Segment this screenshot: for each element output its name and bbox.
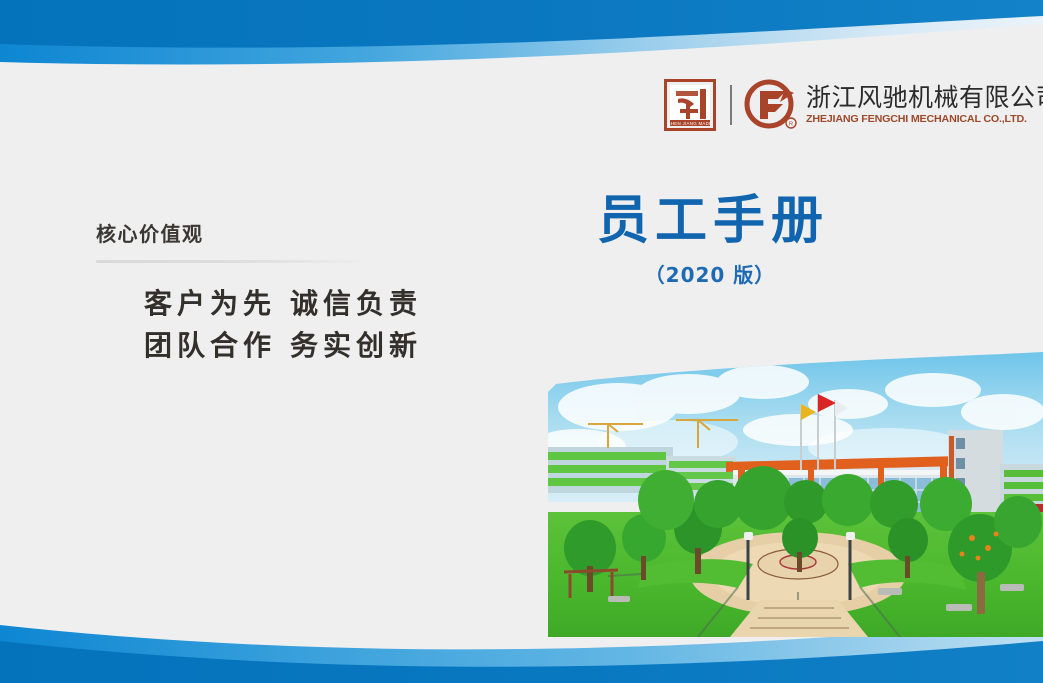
svg-text:R: R xyxy=(789,121,793,127)
core-value-item: 团队合作 xyxy=(144,329,276,362)
employee-handbook-cover: SHEN JIANG MADE R 浙江风驰机械有限公司 ZHEJIANG FE… xyxy=(0,0,1043,683)
title-block: 员工手册 （2020 版） xyxy=(560,190,860,288)
company-name-cn: 浙江风驰机械有限公司 xyxy=(806,84,1043,112)
svg-text:SHEN JIANG MADE: SHEN JIANG MADE xyxy=(668,121,713,126)
company-name-block: 浙江风驰机械有限公司 ZHEJIANG FENGCHI MECHANICAL C… xyxy=(806,84,1043,126)
core-values-block: 核心价值观 客户为先诚信负责 团队合作务实创新 xyxy=(96,222,426,367)
logo-divider xyxy=(730,85,732,125)
core-values-divider xyxy=(96,260,360,263)
core-value-item: 务实创新 xyxy=(290,329,422,362)
document-subtitle: （2020 版） xyxy=(560,262,860,288)
core-values-heading: 核心价值观 xyxy=(96,222,426,248)
company-name-en: ZHEJIANG FENGCHI MECHANICAL CO.,LTD. xyxy=(806,112,1043,126)
bottom-dark-wave xyxy=(0,641,1043,683)
shenjiang-seal-icon: SHEN JIANG MADE xyxy=(664,79,716,131)
core-values-list: 客户为先诚信负责 团队合作务实创新 xyxy=(96,283,426,367)
document-title: 员工手册 xyxy=(560,190,860,252)
fengchi-f-logo-icon: R xyxy=(744,79,798,131)
core-value-item: 诚信负责 xyxy=(290,287,422,320)
company-logo-row: SHEN JIANG MADE R 浙江风驰机械有限公司 ZHEJIANG FE… xyxy=(664,76,1043,134)
core-value-item: 客户为先 xyxy=(144,287,276,320)
core-values-line: 客户为先诚信负责 xyxy=(96,283,422,325)
top-dark-wave xyxy=(0,0,1043,48)
company-campus-photo xyxy=(548,352,1043,637)
top-light-wave xyxy=(0,0,1043,65)
core-values-line: 团队合作务实创新 xyxy=(96,325,422,367)
